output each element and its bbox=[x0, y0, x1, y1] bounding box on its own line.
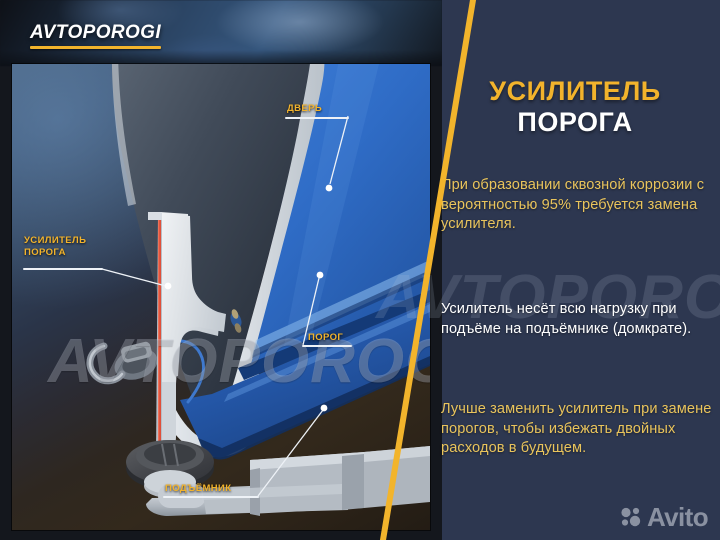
page-title-line2: ПОРОГА bbox=[440, 107, 710, 138]
hinge-assembly bbox=[90, 341, 162, 385]
avito-dots-icon bbox=[619, 505, 643, 529]
page-title: УСИЛИТЕЛЬ ПОРОГА bbox=[440, 76, 710, 138]
advertisement-card: AVTOPOROGI ДВЕРЬ УСИЛИТЕЛЬ ПОРОГА ПОРОГ … bbox=[0, 0, 720, 540]
sill-reinforcement-diagram bbox=[12, 64, 430, 530]
callout-label-podyomnik: ПОДЪЁМНИК bbox=[165, 483, 231, 495]
callout-label-porog: ПОРОГ bbox=[308, 332, 343, 344]
avito-label: Avito bbox=[647, 504, 708, 530]
paragraph-advice: Лучше заменить усилитель при замене поро… bbox=[441, 400, 717, 459]
page-title-line1: УСИЛИТЕЛЬ bbox=[440, 76, 710, 107]
paragraph-corrosion: При образовании сквозной коррозии с веро… bbox=[441, 176, 717, 235]
callout-rule-porog bbox=[302, 345, 352, 347]
callout-rule-dver bbox=[285, 117, 349, 119]
callout-rule-podyomnik bbox=[163, 496, 259, 498]
paragraph-load: Усилитель несёт всю нагрузку при подъёме… bbox=[441, 300, 717, 339]
callout-rule-usilitel bbox=[23, 268, 103, 270]
illustration-panel: AVTOPOROGI ДВЕРЬ УСИЛИТЕЛЬ ПОРОГА ПОРОГ … bbox=[0, 0, 442, 540]
brand-logo: AVTOPOROGI bbox=[30, 22, 161, 49]
callout-label-dver: ДВЕРЬ bbox=[287, 103, 322, 115]
text-panel: AVTOPOROGI УСИЛИТЕЛЬ ПОРОГА При образова… bbox=[442, 0, 720, 540]
callout-label-usilitel-line2: ПОРОГА bbox=[24, 247, 66, 258]
callout-label-usilitel-line1: УСИЛИТЕЛЬ bbox=[24, 235, 86, 246]
brand-logo-underline bbox=[30, 46, 161, 49]
avito-watermark: Avito bbox=[619, 504, 708, 530]
brand-logo-text: AVTOPOROGI bbox=[30, 22, 161, 44]
illustration-frame: AVTOPOROGI ДВЕРЬ УСИЛИТЕЛЬ ПОРОГА ПОРОГ … bbox=[12, 64, 430, 530]
